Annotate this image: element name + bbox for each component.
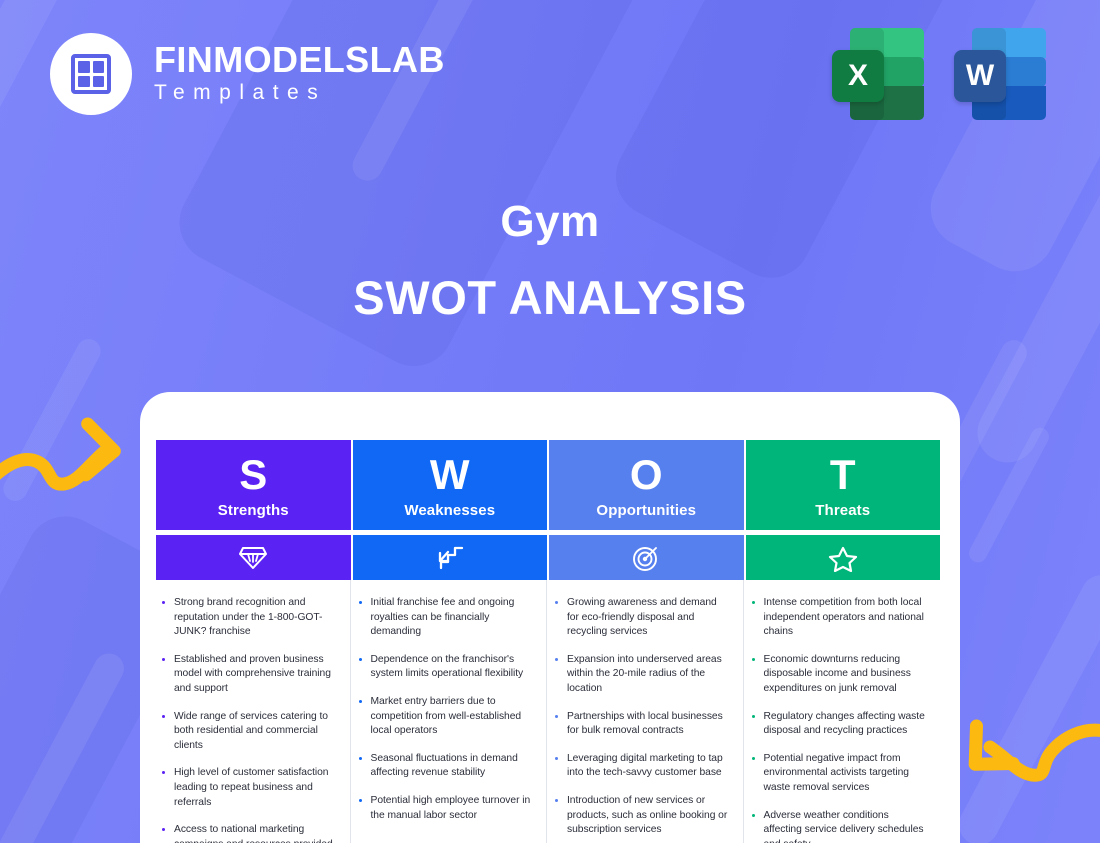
list-item: Expansion into underserved areas within …	[553, 653, 729, 697]
swot-letter: W	[430, 455, 470, 495]
list-item: Market entry barriers due to competition…	[357, 695, 533, 739]
list-item: Seasonal fluctuations in demand affectin…	[357, 752, 533, 781]
word-letter: W	[954, 50, 1006, 102]
list-item: Wide range of services catering to both …	[160, 710, 336, 754]
target-icon	[632, 544, 660, 572]
swot-letter: S	[239, 455, 267, 495]
stairs-down-arrow-icon	[435, 544, 465, 572]
list-item: Intense competition from both local inde…	[750, 596, 927, 640]
swot-points-opportunities: Growing awareness and demand for eco-fri…	[553, 596, 729, 838]
swot-column-strengths: S Strengths Strong brand recognition and…	[156, 440, 351, 843]
swot-body-strengths: Strong brand recognition and reputation …	[156, 580, 351, 843]
list-item: Partnerships with local businesses for b…	[553, 710, 729, 739]
swot-header-weaknesses: W Weaknesses	[353, 440, 548, 530]
excel-icon: X	[832, 28, 924, 120]
brand-subtitle: Templates	[154, 79, 445, 107]
swot-label: Threats	[815, 502, 870, 519]
title-block: Gym SWOT ANALYSIS	[0, 198, 1100, 324]
swot-column-threats: T Threats Intense competition from both …	[746, 440, 941, 843]
swot-header-strengths: S Strengths	[156, 440, 351, 530]
swot-label: Opportunities	[596, 502, 696, 519]
swot-icon-band-strengths	[156, 535, 351, 580]
swot-column-weaknesses: W Weaknesses Initial franchise fee and o…	[353, 440, 548, 843]
swot-header-threats: T Threats	[746, 440, 941, 530]
swot-icon-band-threats	[746, 535, 941, 580]
list-item: High level of customer satisfaction lead…	[160, 766, 336, 810]
swot-grid: S Strengths Strong brand recognition and…	[156, 440, 940, 843]
swot-label: Weaknesses	[404, 502, 495, 519]
swot-points-strengths: Strong brand recognition and reputation …	[160, 596, 336, 843]
swot-points-threats: Intense competition from both local inde…	[750, 596, 927, 843]
yellow-squiggle-arrow-up-right-icon	[0, 404, 136, 494]
page-subtitle: SWOT ANALYSIS	[0, 272, 1100, 324]
list-item: Leveraging digital marketing to tap into…	[553, 752, 729, 781]
star-outline-icon	[828, 544, 858, 572]
swot-icon-band-opportunities	[549, 535, 744, 580]
swot-body-weaknesses: Initial franchise fee and ongoing royalt…	[353, 580, 548, 843]
swot-body-threats: Intense competition from both local inde…	[746, 580, 941, 843]
brand-name: FINMODELSLAB	[154, 41, 445, 79]
office-format-icons: X W	[832, 28, 1046, 120]
swot-column-opportunities: O Opportunities Growing awareness and de…	[549, 440, 744, 843]
slide-canvas: FINMODELSLAB Templates X W Gym SWOT ANAL…	[0, 0, 1100, 843]
swot-letter: O	[630, 455, 663, 495]
word-icon: W	[954, 28, 1046, 120]
list-item: Initial franchise fee and ongoing royalt…	[357, 596, 533, 640]
brand-logo: FINMODELSLAB Templates	[50, 33, 445, 115]
list-item: Dependence on the franchisor's system li…	[357, 653, 533, 682]
swot-icon-band-weaknesses	[353, 535, 548, 580]
swot-points-weaknesses: Initial franchise fee and ongoing royalt…	[357, 596, 533, 823]
list-item: Access to national marketing campaigns a…	[160, 823, 336, 843]
list-item: Adverse weather conditions affecting ser…	[750, 809, 927, 843]
yellow-squiggle-arrow-down-left-icon	[956, 717, 1100, 807]
swot-body-opportunities: Growing awareness and demand for eco-fri…	[549, 580, 744, 843]
list-item: Introduction of new services or products…	[553, 794, 729, 838]
list-item: Strong brand recognition and reputation …	[160, 596, 336, 640]
swot-label: Strengths	[218, 502, 289, 519]
excel-letter: X	[832, 50, 884, 102]
list-item: Potential high employee turnover in the …	[357, 794, 533, 823]
list-item: Potential negative impact from environme…	[750, 752, 927, 796]
page-title: Gym	[0, 198, 1100, 246]
list-item: Economic downturns reducing disposable i…	[750, 653, 927, 697]
list-item: Regulatory changes affecting waste dispo…	[750, 710, 927, 739]
swot-letter: T	[830, 455, 856, 495]
list-item: Established and proven business model wi…	[160, 653, 336, 697]
swot-header-opportunities: O Opportunities	[549, 440, 744, 530]
list-item: Growing awareness and demand for eco-fri…	[553, 596, 729, 640]
swot-card: S Strengths Strong brand recognition and…	[140, 392, 960, 843]
grid-logo-icon	[50, 33, 132, 115]
diamond-icon	[238, 545, 268, 571]
